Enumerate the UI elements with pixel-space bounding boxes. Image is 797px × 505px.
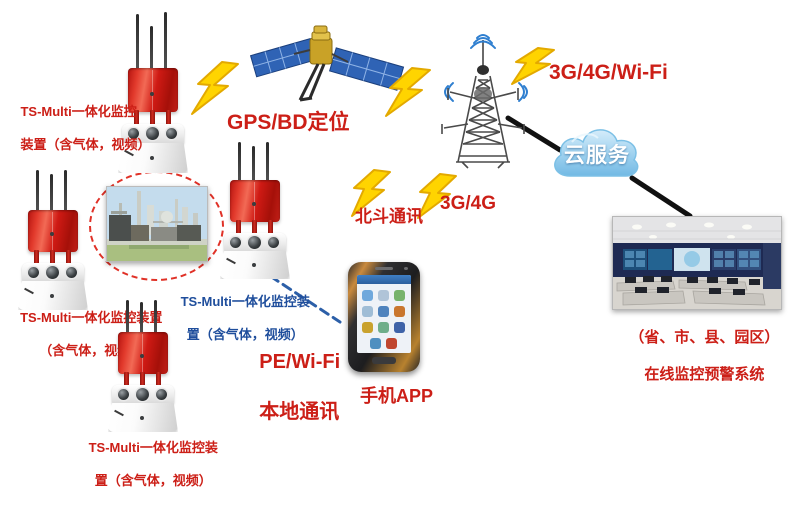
label-3g4g: 3G/4G [440,192,496,216]
keypad-icon[interactable] [372,357,396,364]
cloud-label: 云服务 [564,139,630,169]
app-icon[interactable] [394,306,405,317]
device-base-dot [150,156,154,160]
caption-line-1: （省、市、县、园区） [629,329,779,346]
sensor-port-icon [156,389,167,400]
caption-line-2: 在线监控预警系统 [644,366,764,383]
app-icon[interactable] [394,322,405,333]
control-room-caption: （省、市、县、园区） 在线监控预警系统 [596,310,796,404]
bolt-satellite-to-tower-icon [382,66,436,120]
label-line-1: TS-Multi一体化监控装 [89,440,218,455]
sensor-port-icon [166,128,177,139]
label-gps-bd: GPS/BD定位 [227,110,350,136]
sensor-port-icon [230,237,241,248]
app-icon[interactable] [394,290,405,301]
ts-multi-device-mid-left[interactable] [8,170,100,310]
camera-icon [404,267,408,270]
label-device-top-left: TS-Multi一体化监控 装置（含气体，视频） [6,88,150,169]
device-base-dot [140,416,144,420]
diagram-canvas: TS-Multi一体化监控 装置（含气体，视频） TS-Multi一体化监控装置… [0,0,797,464]
sensor-port-icon [248,236,261,249]
app-icon[interactable] [386,338,397,349]
label-line-2: 本地通讯 [259,401,339,423]
label-line-1: TS-Multi一体化监控装 [181,294,310,309]
speaker-grill-icon [375,267,393,270]
handheld-caption: 手机APP [360,385,433,408]
app-icon[interactable] [378,290,389,301]
label-line-2: 装置（含气体，视频） [20,137,150,152]
handheld-screen[interactable] [357,275,411,353]
label-line-1: PE/Wi-Fi [259,351,340,373]
app-icon[interactable] [362,290,373,301]
control-room-photo[interactable] [612,216,782,310]
app-icon[interactable] [362,306,373,317]
app-icon[interactable] [362,322,373,333]
app-icon[interactable] [370,338,381,349]
label-local-comm: PE/Wi-Fi 本地通讯 [237,325,340,450]
app-icon[interactable] [378,322,389,333]
device-base-dot [252,263,256,267]
label-wireless-3g4g-wifi: 3G/4G/Wi-Fi [549,60,668,86]
label-beidou: 北斗通讯 [355,206,423,227]
app-icon[interactable] [378,306,389,317]
industrial-plant-photo [106,186,208,262]
sensor-port-icon [136,388,149,401]
label-line-2: 置（含气体，视频） [95,473,212,488]
sensor-port-icon [118,389,129,400]
screen-statusbar [357,275,411,284]
sensor-port-icon [28,267,39,278]
ts-multi-device-center[interactable] [210,142,302,278]
label-line-1: TS-Multi一体化监控 [20,104,136,119]
label-device-bottom-left: TS-Multi一体化监控装 置（含气体，视频） [66,424,226,505]
sensor-port-icon [46,266,59,279]
handheld-device[interactable] [348,262,420,372]
sensor-port-icon [66,267,77,278]
sensor-port-icon [268,237,279,248]
